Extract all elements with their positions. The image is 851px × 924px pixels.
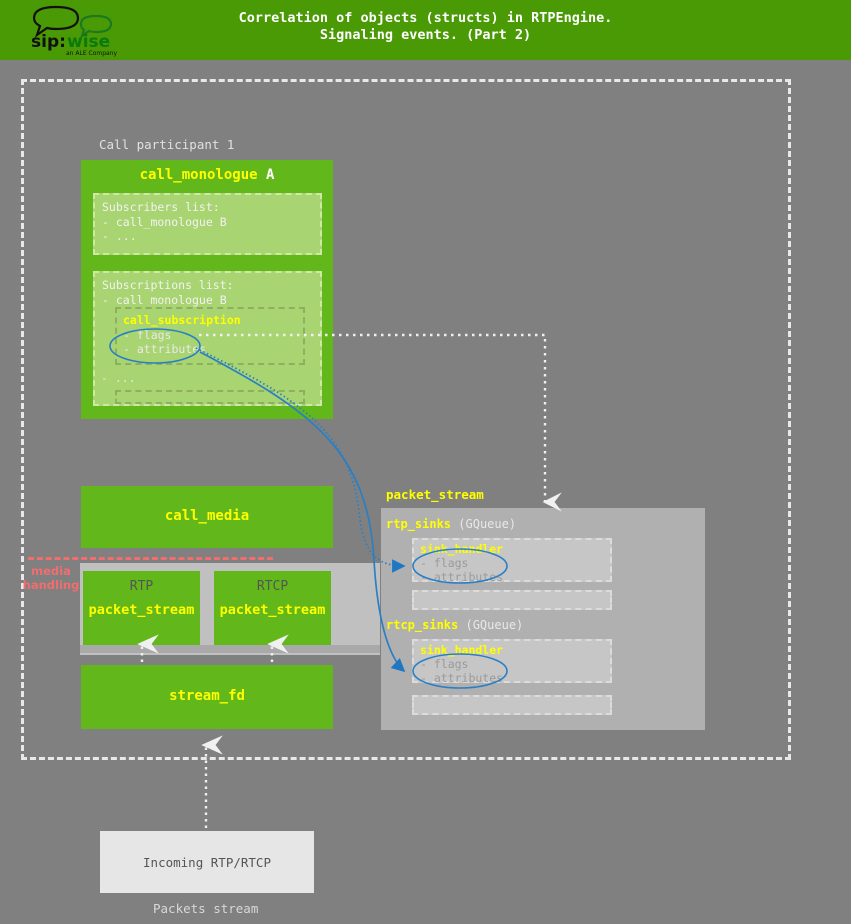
rtp-struct-label: packet_stream: [83, 602, 200, 618]
rtcp-sinks-type: (GQueue): [465, 618, 523, 632]
call-subscription-title: call_subscription: [123, 313, 297, 328]
rtp-protocol-label: RTP: [83, 579, 200, 594]
rtcp-packet-stream-box: RTCP packet_stream: [214, 571, 331, 645]
rtp-packet-stream-box: RTP packet_stream: [83, 571, 200, 645]
rtcp-sink-handler-box: sink_handler - flags - attributes: [412, 639, 612, 683]
call-media-box: call_media: [81, 486, 333, 548]
call-media-title: call_media: [81, 508, 333, 524]
call-subscription-placeholder-box: [115, 390, 305, 404]
rtcp-sinks-title: rtcp_sinks (GQueue): [386, 618, 523, 632]
sipwise-logo: sip: wise an ALE Company: [26, 2, 136, 58]
call-monologue-name: call_monologue: [140, 167, 258, 183]
rtp-sink-handler-title: sink_handler: [420, 542, 604, 556]
svg-text:sip:: sip:: [31, 32, 66, 52]
rtp-sink-handler-field-flags: - flags: [420, 556, 604, 570]
rtcp-sinks-name: rtcp_sinks: [386, 618, 458, 632]
rtp-sink-handler-placeholder: [412, 590, 612, 610]
call-monologue-box: call_monologue A Subscribers list: - cal…: [81, 160, 333, 419]
subscriptions-list-box: Subscriptions list: - call monologue B c…: [93, 271, 322, 406]
rtp-sinks-type: (GQueue): [458, 517, 516, 531]
subscriptions-heading: Subscriptions list:: [102, 278, 313, 293]
stream-divider-strip: [80, 645, 380, 653]
call-monologue-title: call_monologue A: [81, 167, 333, 183]
rtp-sinks-name: rtp_sinks: [386, 517, 451, 531]
svg-text:an ALE Company: an ALE Company: [66, 50, 118, 57]
subscriptions-ellipsis: - ...: [101, 371, 136, 386]
page-header: sip: wise an ALE Company Correlation of …: [0, 0, 851, 60]
rtp-sinks-title: rtp_sinks (GQueue): [386, 517, 516, 531]
rtcp-sink-handler-title: sink_handler: [420, 643, 604, 657]
call-subscription-field-flags: - flags: [123, 328, 297, 343]
rtp-sink-handler-field-attributes: - attributes: [420, 570, 604, 584]
page-title: Correlation of objects (structs) in RTPE…: [150, 10, 701, 44]
rtcp-sink-handler-placeholder: [412, 695, 612, 715]
stream-fd-box: stream_fd: [81, 665, 333, 729]
subscribers-heading: Subscribers list:: [102, 200, 313, 215]
packet-stream-label: packet_stream: [386, 487, 484, 502]
call-subscription-box: call_subscription - flags - attributes: [115, 307, 305, 365]
rtp-sink-handler-box: sink_handler - flags - attributes: [412, 538, 612, 582]
svg-text:wise: wise: [67, 32, 110, 52]
stream-fd-title: stream_fd: [81, 688, 333, 704]
rtcp-sink-handler-field-attributes: - attributes: [420, 671, 604, 685]
diagram-canvas: sip: wise an ALE Company Correlation of …: [0, 0, 851, 924]
call-monologue-suffix: A: [258, 167, 275, 183]
incoming-rtp-rtcp-box: Incoming RTP/RTCP: [100, 831, 314, 893]
subscribers-list-box: Subscribers list: - call_monologue B - .…: [93, 193, 322, 255]
rtcp-sink-handler-field-flags: - flags: [420, 657, 604, 671]
subscriptions-item: - call monologue B: [102, 293, 313, 308]
rtcp-struct-label: packet_stream: [214, 602, 331, 618]
call-participant-label: Call participant 1: [99, 137, 234, 152]
media-handling-label: media handling: [22, 565, 80, 592]
call-subscription-field-attributes: - attributes: [123, 342, 297, 357]
packets-stream-label: Packets stream: [153, 901, 258, 916]
subscribers-item-1: - ...: [102, 229, 313, 244]
subscribers-item-0: - call_monologue B: [102, 215, 313, 230]
rtcp-protocol-label: RTCP: [214, 579, 331, 594]
media-handling-divider: [28, 557, 273, 560]
packet-stream-panel: rtp_sinks (GQueue) sink_handler - flags …: [381, 508, 705, 730]
